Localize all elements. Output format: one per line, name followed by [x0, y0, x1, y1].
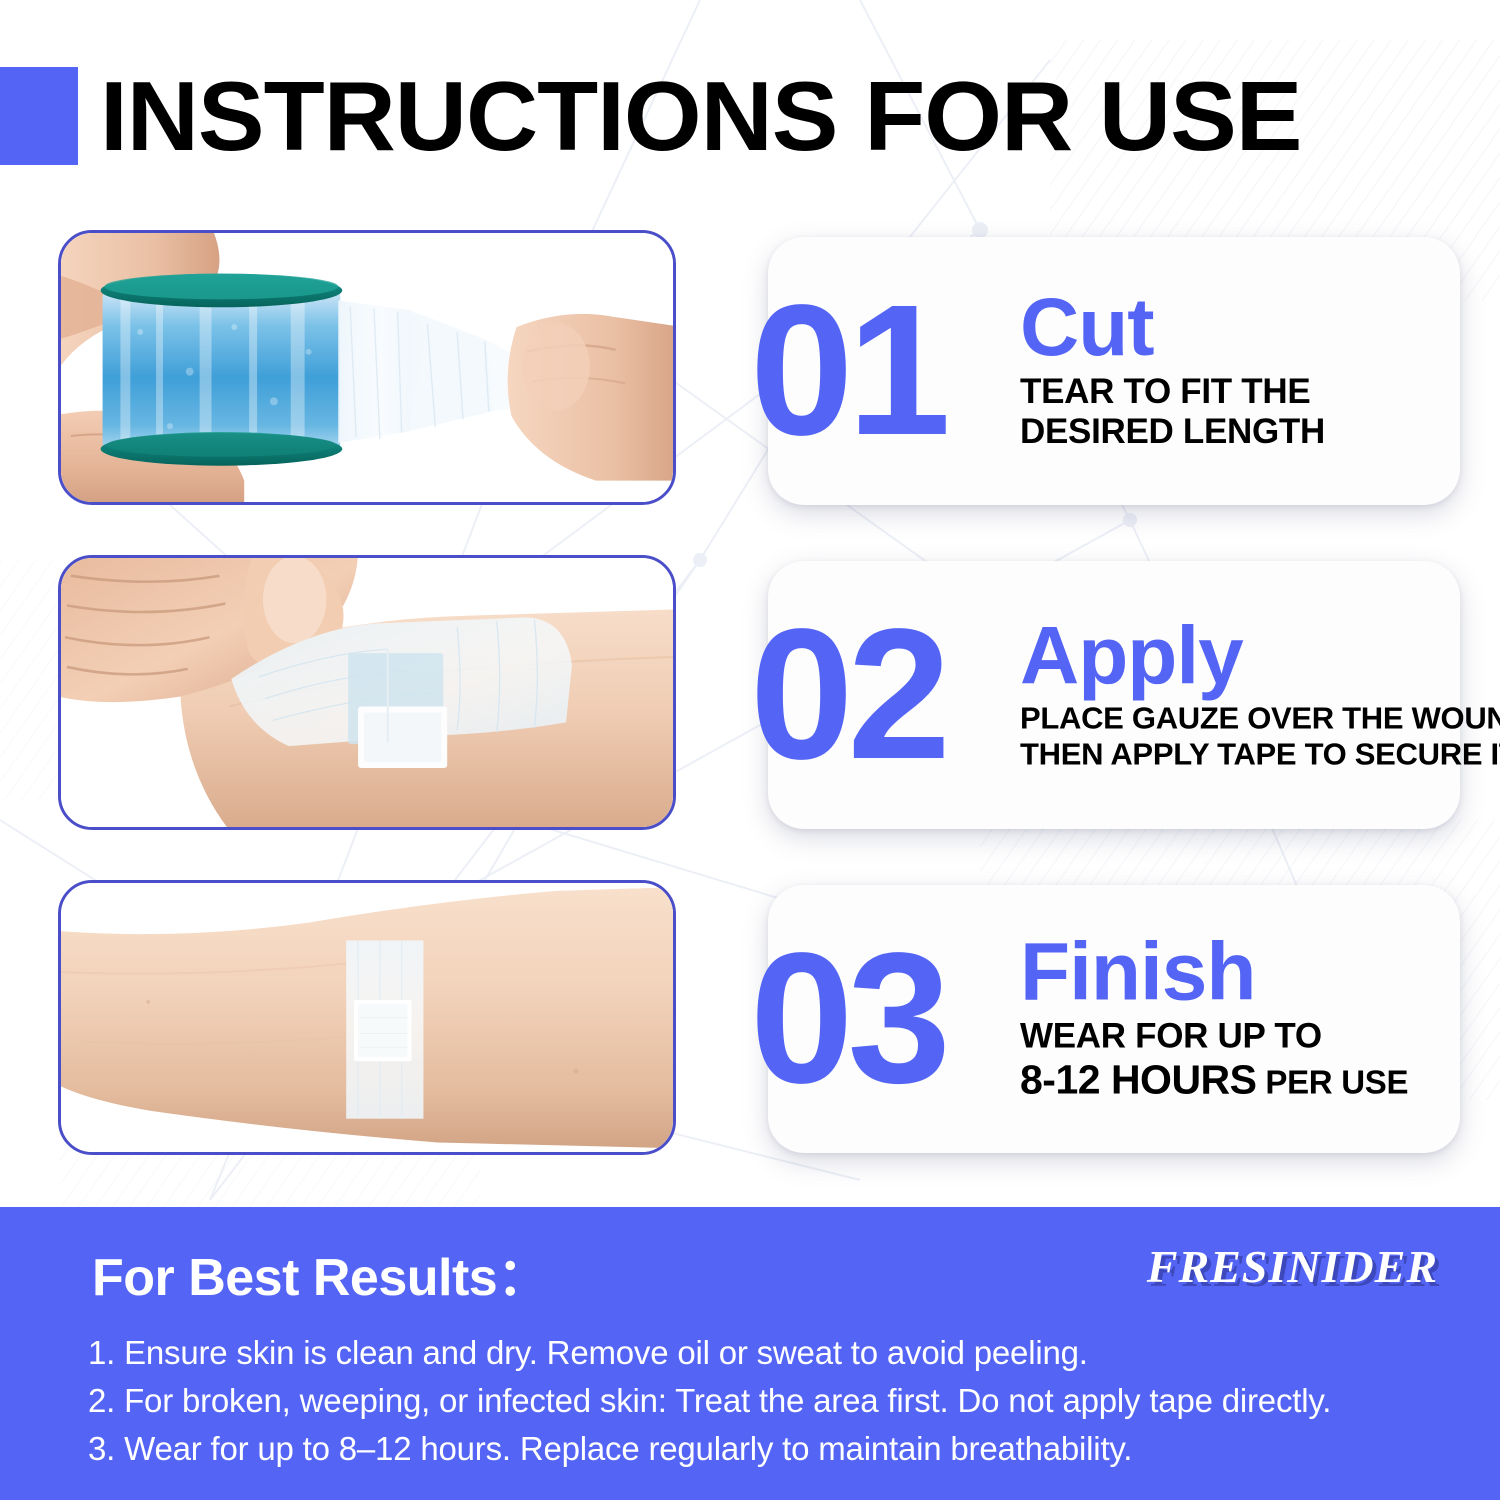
footer-best-results: For Best Results： FRESINIDER 1. Ensure s… — [0, 1207, 1500, 1500]
step-body-02: Apply PLACE GAUZE OVER THE WOUND THEN AP… — [1020, 618, 1444, 773]
header-accent-bar — [0, 67, 78, 165]
page-title: INSTRUCTIONS FOR USE — [100, 67, 1301, 165]
finished-bandage-photo — [61, 883, 673, 1155]
step-desc-01: TEAR TO FIT THE DESIRED LENGTH — [1020, 372, 1444, 453]
list-item: 1. Ensure skin is clean and dry. Remove … — [88, 1329, 1460, 1377]
step-desc-line: PLACE GAUZE OVER THE WOUND — [1020, 700, 1444, 736]
step-body-01: Cut TEAR TO FIT THE DESIRED LENGTH — [1020, 289, 1444, 453]
step-desc-line: TEAR TO FIT THE — [1020, 372, 1444, 413]
step-desc-line: THEN APPLY TAPE TO SECURE IT — [1020, 736, 1444, 772]
step-title-01: Cut — [1020, 289, 1444, 368]
step-desc-line: WEAR FOR UP TO — [1020, 1016, 1444, 1057]
page-header: INSTRUCTIONS FOR USE — [0, 60, 1500, 172]
photo-card-finish — [58, 880, 676, 1155]
step-title-03: Finish — [1020, 934, 1444, 1013]
step-number-02: 02 — [750, 602, 945, 788]
tape-roll-photo — [61, 233, 673, 505]
step-desc-03: WEAR FOR UP TO 8-12 HOURS PER USE — [1020, 1016, 1444, 1104]
footer-header-row: For Best Results： FRESINIDER — [0, 1207, 1500, 1299]
instructions-infographic: INSTRUCTIONS FOR USE — [0, 0, 1500, 1500]
step-duration-highlight: 8-12 HOURS — [1020, 1057, 1257, 1103]
photo-card-cut — [58, 230, 676, 505]
step-duration-tail: PER USE — [1257, 1064, 1409, 1101]
footer-heading: For Best Results： — [92, 1235, 549, 1310]
step-title-02: Apply — [1020, 618, 1444, 697]
step-card-02: 02 Apply PLACE GAUZE OVER THE WOUND THEN… — [768, 561, 1460, 829]
step-number-03: 03 — [750, 926, 945, 1112]
step-card-01: 01 Cut TEAR TO FIT THE DESIRED LENGTH — [768, 237, 1460, 505]
list-item: 3. Wear for up to 8–12 hours. Replace re… — [88, 1425, 1460, 1473]
list-item: 2. For broken, weeping, or infected skin… — [88, 1377, 1460, 1425]
photo-card-apply — [58, 555, 676, 830]
footer-tips-list: 1. Ensure skin is clean and dry. Remove … — [88, 1329, 1460, 1474]
step-number-01: 01 — [750, 278, 945, 464]
step-card-03: 03 Finish WEAR FOR UP TO 8-12 HOURS PER … — [768, 885, 1460, 1153]
step-desc-02: PLACE GAUZE OVER THE WOUND THEN APPLY TA… — [1020, 700, 1444, 772]
main-content: 01 Cut TEAR TO FIT THE DESIRED LENGTH 02… — [0, 225, 1500, 1185]
step-desc-line: DESIRED LENGTH — [1020, 412, 1444, 453]
step-desc-duration-line: 8-12 HOURS PER USE — [1020, 1057, 1444, 1105]
step-body-03: Finish WEAR FOR UP TO 8-12 HOURS PER USE — [1020, 934, 1444, 1105]
brand-logo: FRESINIDER — [1147, 1240, 1438, 1293]
apply-tape-photo — [61, 558, 673, 830]
